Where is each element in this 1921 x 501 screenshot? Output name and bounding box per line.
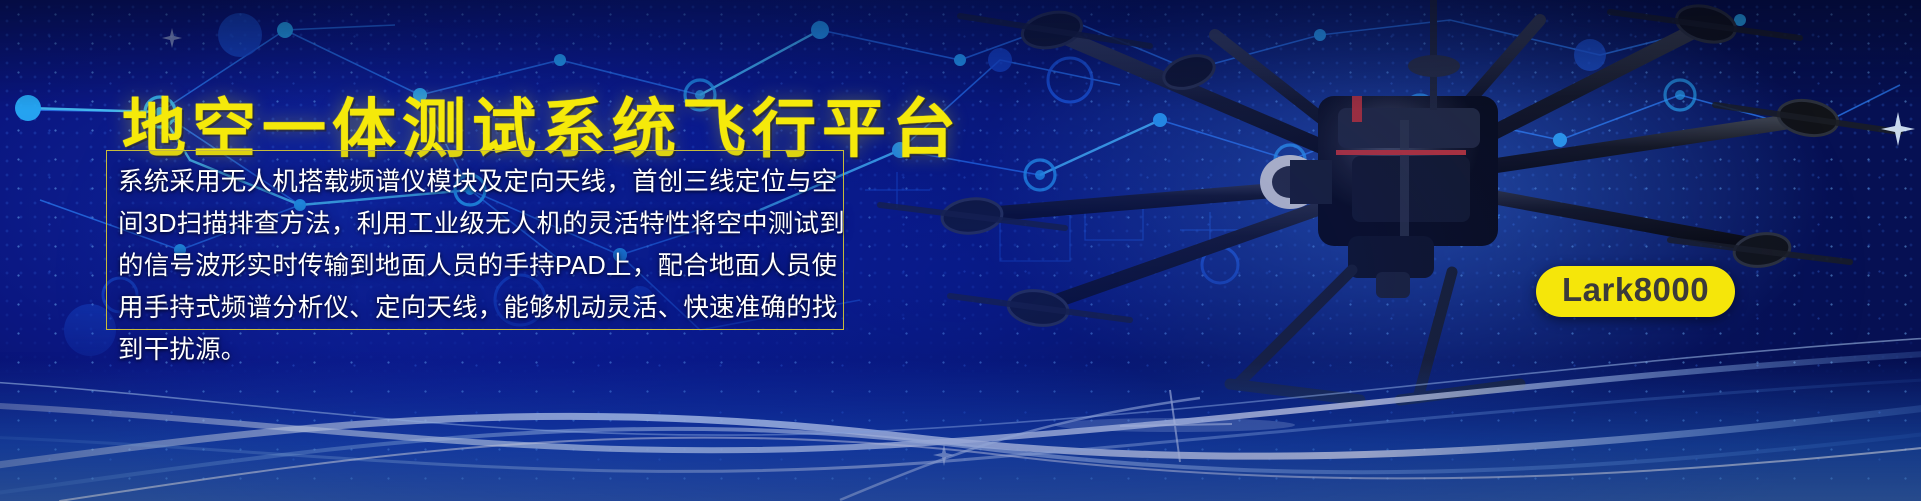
description-text: 系统采用无人机搭载频谱仪模块及定向天线，首创三线定位与空间3D扫描排查方法，利用…: [118, 161, 858, 371]
product-model-badge: Lark8000: [1536, 266, 1735, 317]
product-banner: 地空一体测试系统飞行平台 系统采用无人机搭载频谱仪模块及定向天线，首创三线定位与…: [0, 0, 1921, 501]
banner-content: 地空一体测试系统飞行平台 系统采用无人机搭载频谱仪模块及定向天线，首创三线定位与…: [0, 0, 1921, 501]
